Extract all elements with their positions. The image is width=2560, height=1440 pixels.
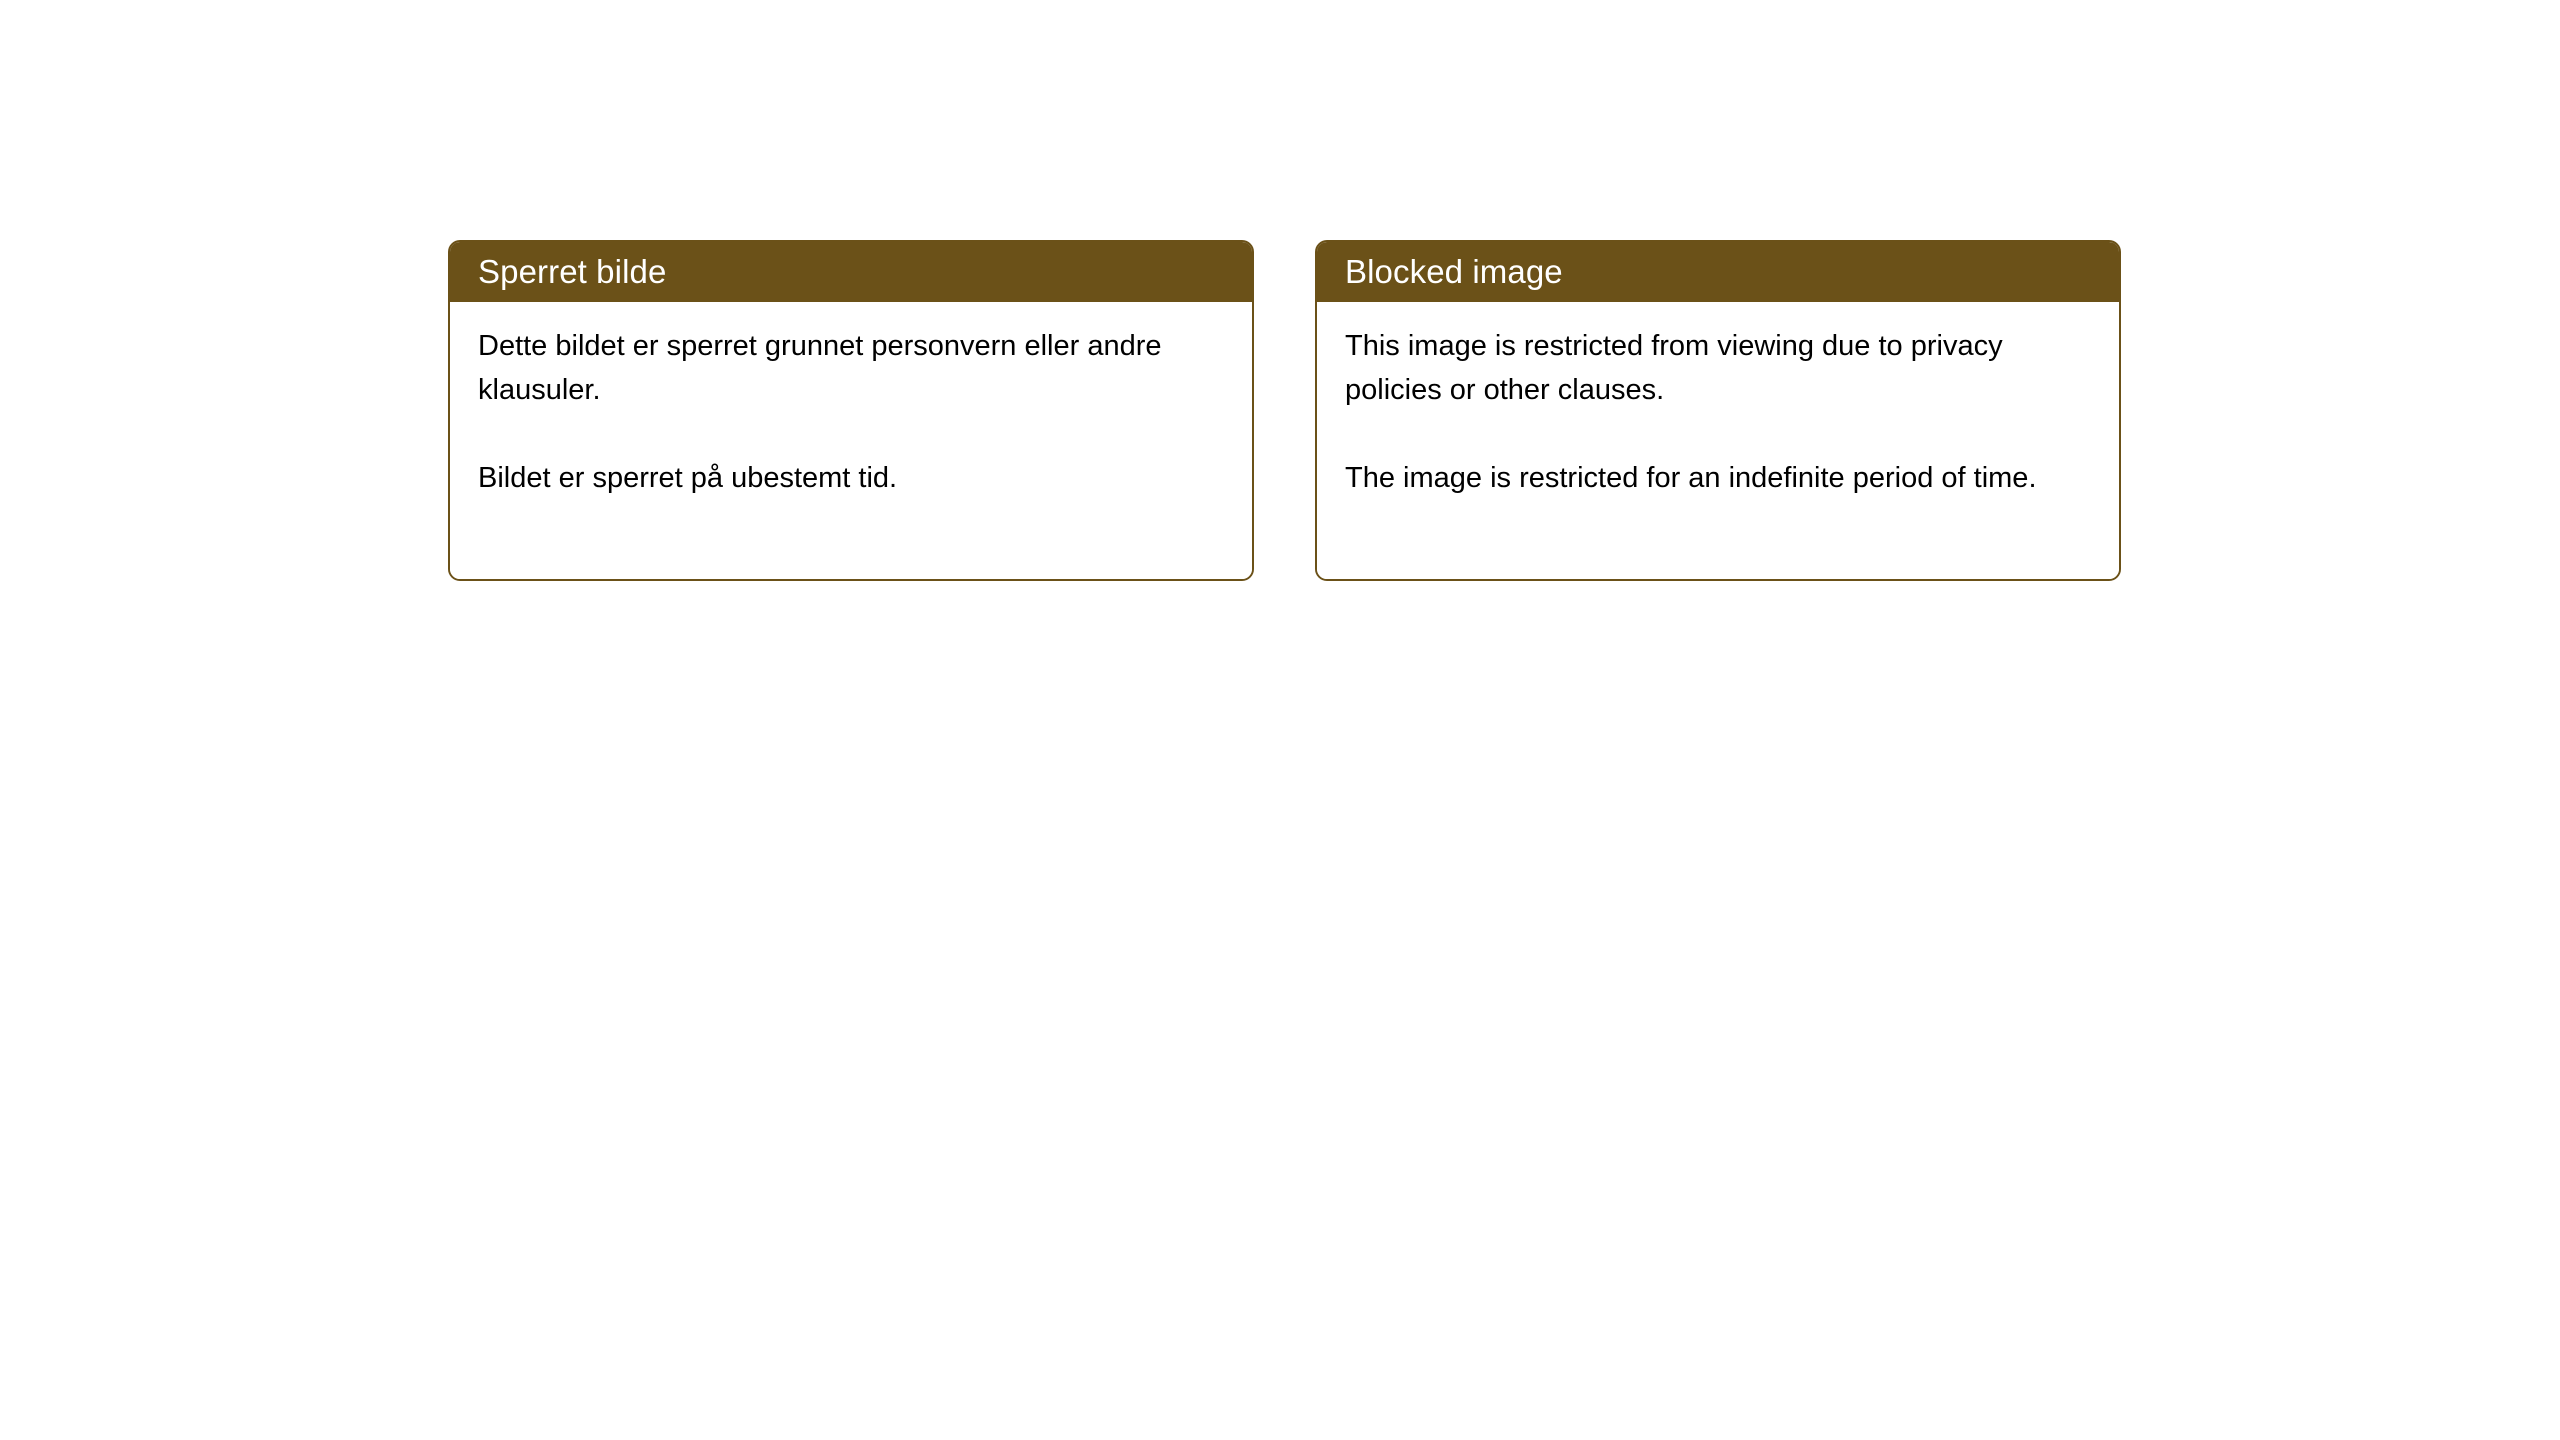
card-header-en: Blocked image [1317,242,2119,302]
card-paragraph-no-1: Dette bildet er sperret grunnet personve… [478,324,1218,412]
notice-cards-row: Sperret bilde Dette bildet er sperret gr… [448,240,2121,581]
card-paragraph-en-1: This image is restricted from viewing du… [1345,324,2089,412]
card-paragraph-en-2: The image is restricted for an indefinit… [1345,456,2089,500]
card-paragraph-no-2: Bildet er sperret på ubestemt tid. [478,456,1218,500]
card-body-en: This image is restricted from viewing du… [1317,302,2119,579]
card-body-no: Dette bildet er sperret grunnet personve… [450,302,1252,579]
page-background: Sperret bilde Dette bildet er sperret gr… [0,0,2560,1440]
blocked-image-notice-card-no: Sperret bilde Dette bildet er sperret gr… [448,240,1254,581]
card-title-en: Blocked image [1345,253,1563,291]
card-header-no: Sperret bilde [450,242,1252,302]
card-title-no: Sperret bilde [478,253,666,291]
blocked-image-notice-card-en: Blocked image This image is restricted f… [1315,240,2121,581]
